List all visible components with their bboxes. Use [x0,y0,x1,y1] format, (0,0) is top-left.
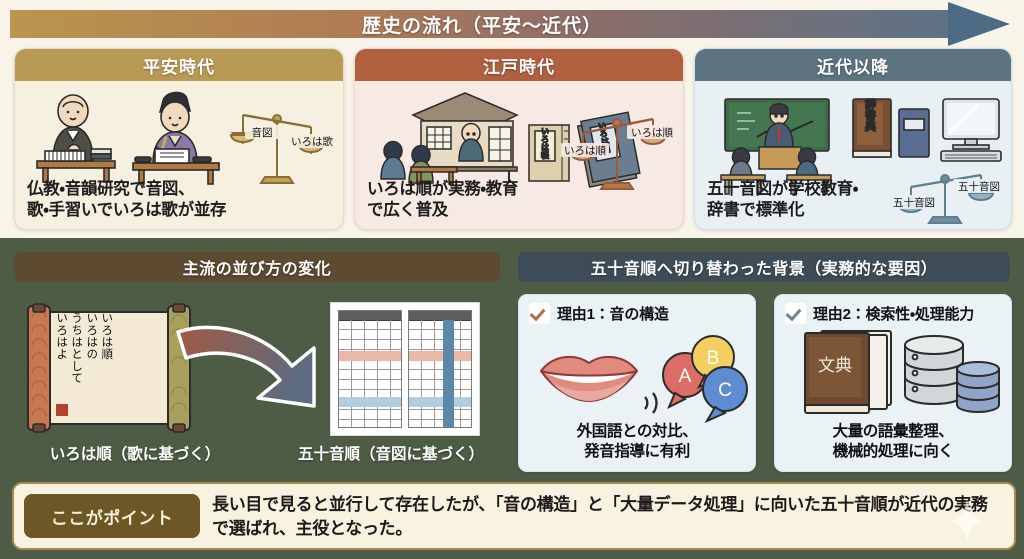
gojuon-table-graphic [330,302,480,436]
era-card-heian: 平安時代 [14,48,344,230]
era-caption-modern: 五十音図が学校教育・ 辞書で標準化 [707,179,858,221]
checkbox-checked-icon [785,303,806,324]
dictionary-label: 辞書典 [864,98,877,132]
reason-1-title: 理由1：音の構造 [557,303,669,324]
flow-caption-right: 五十音順（音図に基づく） [276,442,506,464]
checkbox-checked-icon [529,303,550,324]
infographic-root: 歴史の流れ（平安～近代） 平安時代 [0,0,1024,559]
era-card-modern: 近代以降 [694,48,1012,230]
reason-1-title-row: 理由1：音の構造 [529,303,669,324]
sparkle-icon [950,498,984,544]
scale-label-left-modern: 五十音図 [893,196,935,209]
reason-card-1: 理由1：音の構造 A [518,294,756,472]
history-flow-arrow: 歴史の流れ（平安～近代） [10,6,1014,42]
era-title-modern: 近代以降 [695,49,1011,81]
reason-2-title: 理由2：検索性・処理能力 [813,303,974,324]
era-body-modern: 辞書典 [695,81,1011,229]
flow-section-title: 主流の並び方の変化 [14,252,500,282]
era-body-heian: 音図 いろは歌 仏教・音韻研究で音図、 歌・手習いでいろは歌が並存 [15,81,343,229]
table-highlight-column [443,320,454,427]
scroll-column: いろはの [86,312,98,384]
key-point-bar: ここがポイント 長い目で見ると並行して存在したが、「音の構造」と「大量データ処理… [12,482,1016,550]
scale-label-right-modern: 五十音図 [958,180,1000,193]
table-highlight-row-blue [339,397,401,407]
flow-caption-left: いろは順（歌に基づく） [20,442,250,464]
arrow-head-icon [948,2,1010,46]
era-caption-edo: いろは順が実務・教育 で広く普及 [367,179,518,221]
arrow-label: 歴史の流れ（平安～近代） [10,10,954,38]
key-point-text: 長い目で見ると並行して存在したが、「音の構造」と「大量データ処理」に向いた五十音… [212,493,1000,541]
reason-2-title-row: 理由2：検索性・処理能力 [785,303,974,324]
scale-label-left-heian: 音図 [252,126,273,139]
table-gridlines [409,320,471,427]
table-grid-left [338,310,402,428]
transition-arrow-icon [162,314,342,424]
table-highlight-row-blue [409,397,471,407]
era-body-edo: いろは帳 いろは引 [355,81,683,229]
book-label: 文典 [818,356,852,376]
sound-waves-icon [645,393,657,413]
table-highlight-row-pink [409,351,471,361]
era-title-heian: 平安時代 [15,49,343,81]
key-point-badge: ここがポイント [24,494,200,538]
era-title-edo: 江戸時代 [355,49,683,81]
bubble-label-b: B [707,348,720,369]
bubble-label-c: C [718,380,732,401]
era-card-edo: 江戸時代 [354,48,684,230]
table-highlight-row-pink [339,351,401,361]
reasons-section-title: 五十音順へ切り替わった背景（実務的な要因） [518,252,1010,282]
lips-and-abc-icon: A B C [519,327,755,423]
scale-label-right-edo: いろは順 [631,127,673,139]
scale-label-right-heian: いろは歌 [291,136,333,148]
scroll-column: うちはとして [71,312,83,384]
book-and-database-icon: 文典 [775,327,1011,423]
bubble-label-a: A [679,366,692,387]
reasons-panel: 五十音順へ切り替わった背景（実務的な要因） 理由1：音の構造 [518,252,1010,474]
reason-2-caption: 大量の語彙整理、 機械的処理に向く [775,422,1011,462]
table-grid-right [408,310,472,428]
scroll-text: いろは順 いろはの うちはとして いろはよ [56,312,113,384]
scale-label-left-edo: いろは順 [564,145,606,157]
flow-change-panel: 主流の並び方の変化 いろは順 いろはの うちはとして いろはよ [14,252,504,474]
era-caption-heian: 仏教・音韻研究で音図、 歌・手習いでいろは歌が並存 [27,179,226,221]
table-gridlines [339,320,401,427]
scroll-column: いろは順 [101,312,113,384]
reason-1-caption: 外国語との対比、 発音指導に有利 [519,422,755,462]
reason-card-2: 理由2：検索性・処理能力 文典 [774,294,1012,472]
scroll-column: いろはよ [56,312,68,384]
svg-text:いろは帳: いろは帳 [541,127,550,160]
